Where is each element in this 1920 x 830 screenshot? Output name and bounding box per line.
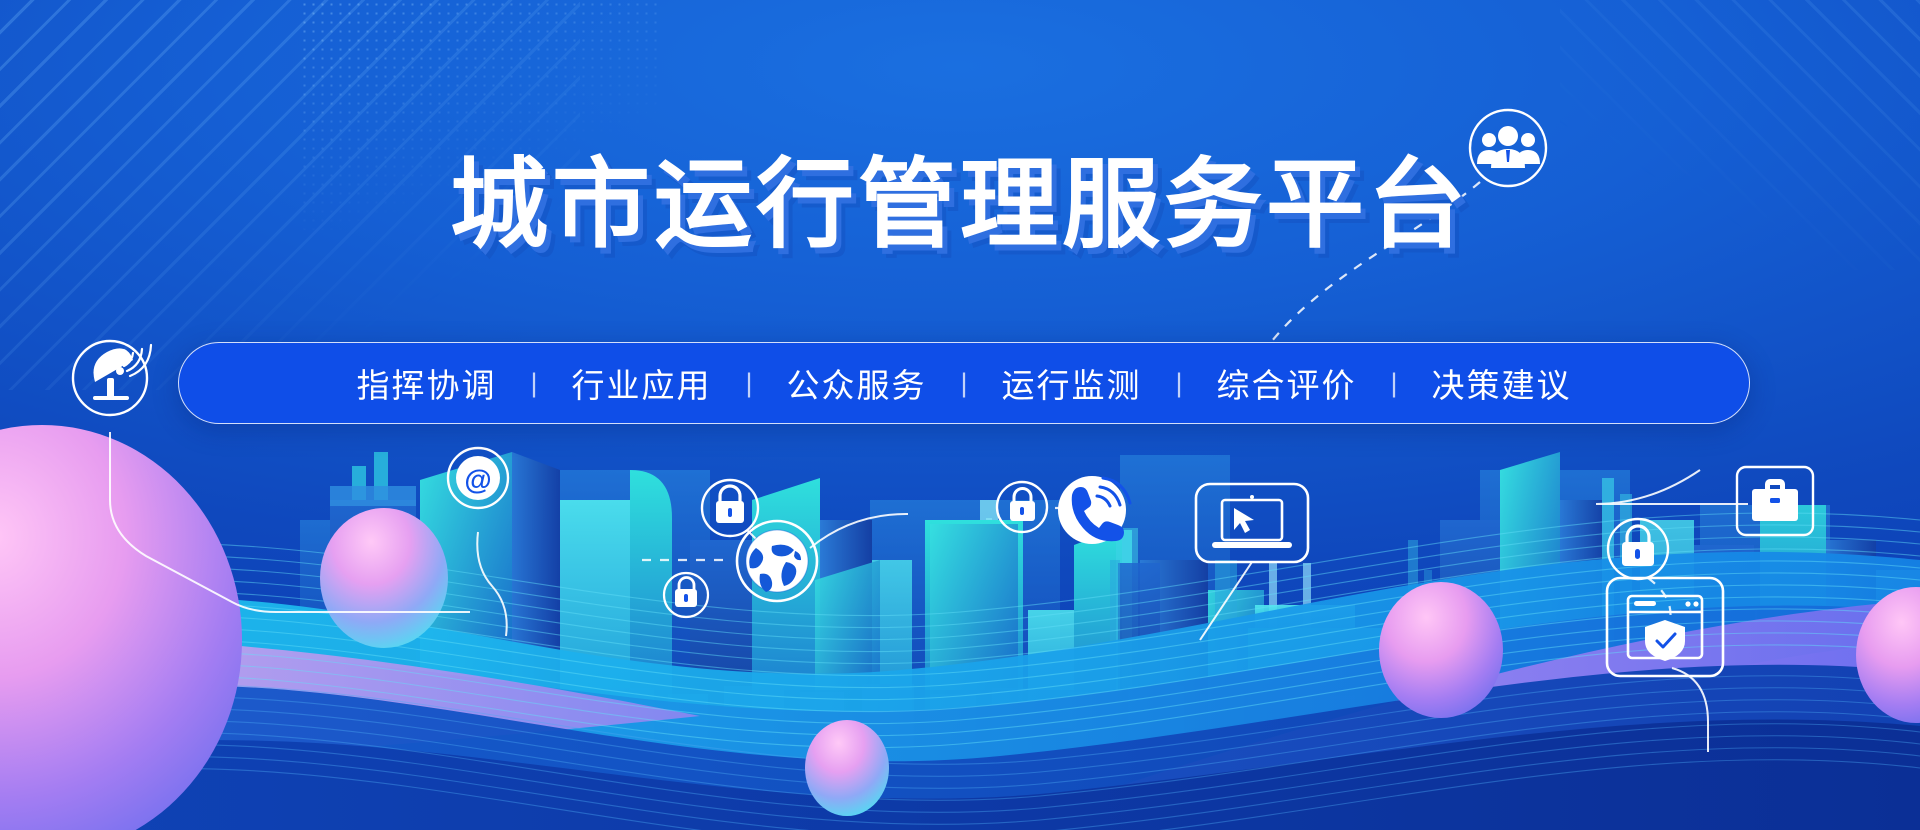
sphere-mid-upper [320, 508, 448, 648]
nav-separator: | [745, 368, 752, 399]
nav-item-2[interactable]: 行业应用 [537, 359, 745, 407]
banner-stage: @ [0, 0, 1920, 830]
nav-item-3[interactable]: 公众服务 [752, 359, 960, 407]
sphere-mid-lower [805, 720, 889, 816]
users-group-icon[interactable] [1470, 110, 1546, 186]
at-sign-icon[interactable]: @ [448, 448, 508, 508]
nav-separator: | [1176, 368, 1183, 399]
globe-icon[interactable] [737, 521, 817, 601]
nav-separator: | [1391, 368, 1398, 399]
nav-item-4[interactable]: 运行监测 [968, 359, 1176, 407]
nav-separator: | [960, 368, 967, 399]
sphere-right [1379, 582, 1503, 718]
nav-item-6[interactable]: 决策建议 [1398, 359, 1606, 407]
svg-text:@: @ [464, 464, 491, 495]
nav-item-1[interactable]: 指挥协调 [322, 359, 530, 407]
lock-icon-1[interactable] [702, 480, 758, 536]
nav-item-5[interactable]: 综合评价 [1183, 359, 1391, 407]
main-nav[interactable]: 指挥协调|行业应用|公众服务|运行监测|综合评价|决策建议 [178, 342, 1750, 424]
satellite-dish-icon[interactable] [73, 341, 151, 415]
phone-call-icon[interactable] [1058, 476, 1130, 544]
nav-separator: | [530, 368, 537, 399]
